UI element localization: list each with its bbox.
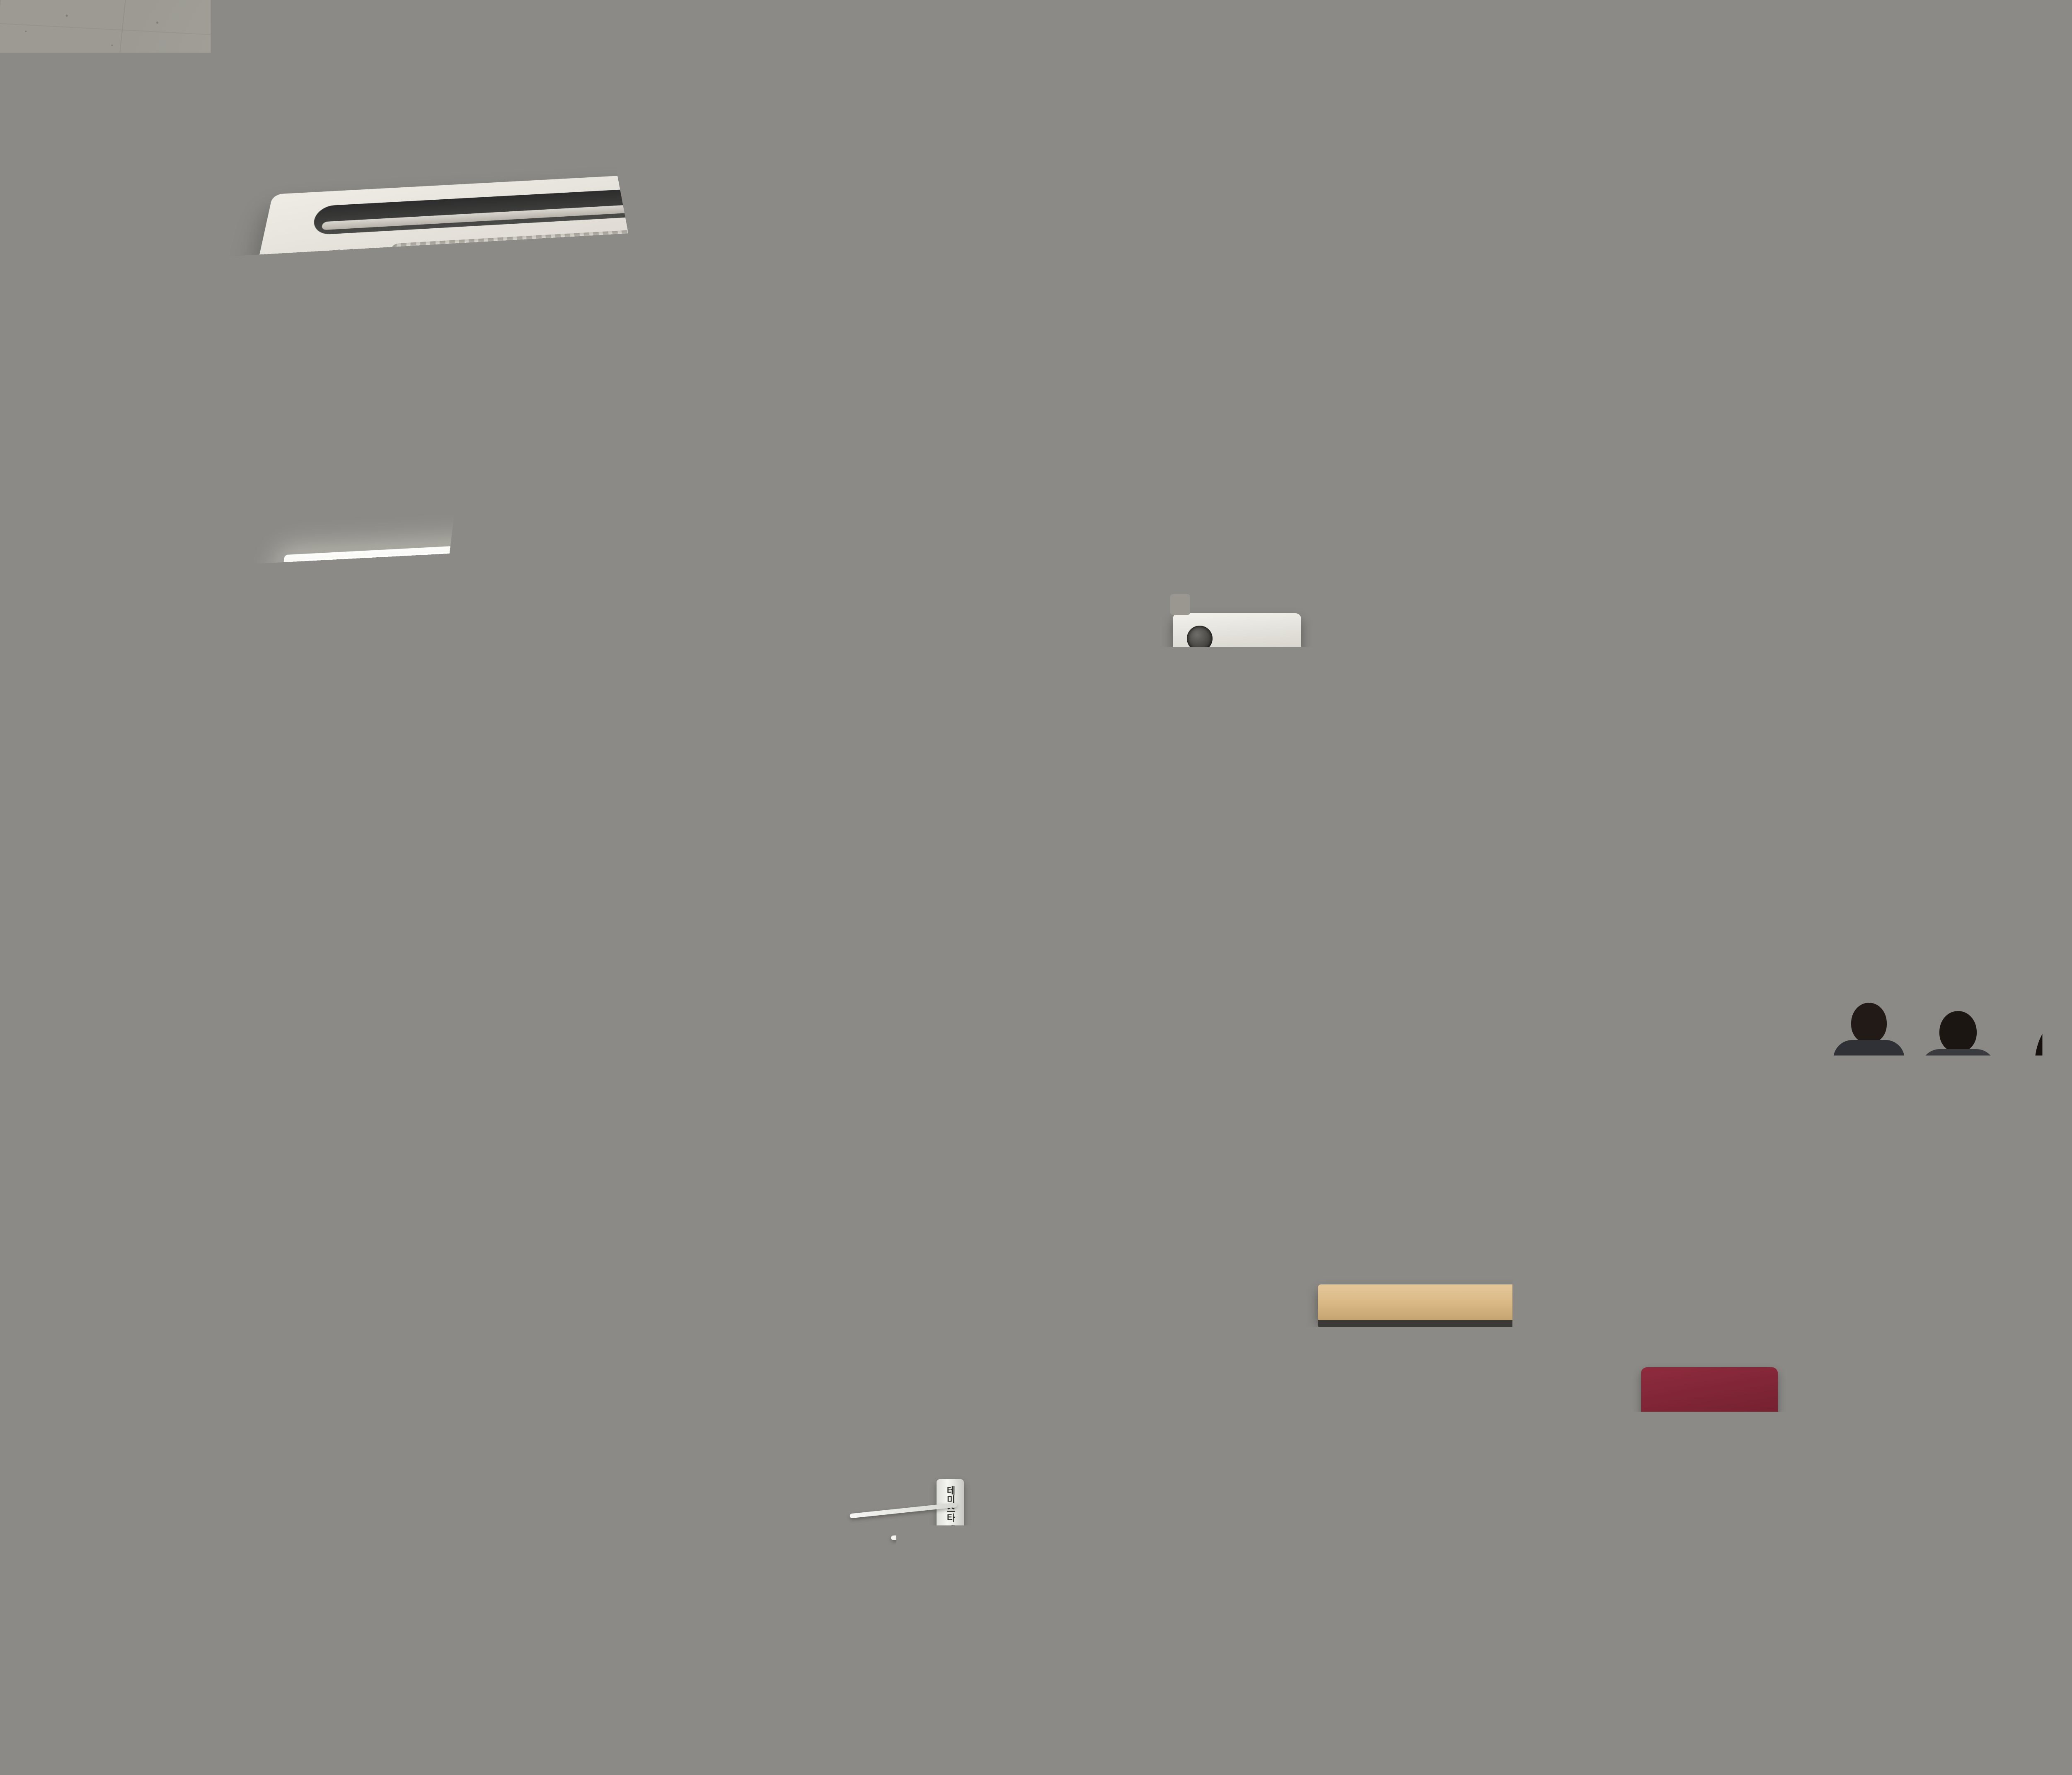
- attendee-head: [871, 1015, 907, 1057]
- banner-bullet-icon: ■: [951, 781, 962, 789]
- snack-pack[interactable]: [1533, 1417, 1649, 1479]
- round-object[interactable]: [1401, 1715, 1446, 1761]
- window-glass: [1977, 520, 2072, 830]
- classroom-chair[interactable]: [315, 1388, 439, 1487]
- bottle-label-text: 아이스티: [1753, 1399, 1764, 1427]
- earbuds[interactable]: [559, 1572, 598, 1592]
- iced-tea-bottle[interactable]: 아이스티: [1871, 1351, 1906, 1479]
- emotion-blob-yellow: [1061, 804, 1109, 849]
- paper-lines: [724, 1335, 814, 1383]
- student-desk[interactable]: [456, 1218, 754, 1252]
- sticky-note-pad[interactable]: [472, 1612, 543, 1661]
- paper-lines: [343, 1219, 461, 1271]
- presenter-view-toolbar[interactable]: 표시 설정 펜 설정 모니터 전환 — ▫ ✕: [987, 663, 1447, 680]
- mood-meter-grid: [2036, 1498, 2072, 1563]
- tablet-device[interactable]: [895, 1305, 1036, 1400]
- attendee-head: [85, 990, 123, 1033]
- tablet-device[interactable]: [1703, 1222, 1811, 1301]
- handout-paper[interactable]: [339, 1215, 465, 1275]
- backpack[interactable]: [1173, 1326, 1305, 1429]
- poster-right-items: [1542, 876, 1597, 914]
- qr-notice-flyer: 교내 시설 이용안내 / 설문 참여: [538, 940, 585, 1008]
- attendee-torso: [363, 1033, 437, 1109]
- ac-power-indicator-light: [748, 206, 765, 217]
- next-slide-button[interactable]: ▶: [1163, 970, 1176, 983]
- water-bottle[interactable]: [1280, 1077, 1300, 1135]
- window-mullion-horizontal: [68, 808, 301, 819]
- attendee: [62, 990, 145, 1110]
- slide-title-line-1: 대학생을 위한: [992, 729, 1278, 754]
- current-slide[interactable]: 대학생을 위한 "감정 마주하기": [992, 693, 1278, 988]
- attendee: [1964, 1119, 2072, 1400]
- banner-university-name-en: SEOYEONG UNIVERSITY: [673, 765, 793, 789]
- bottle-cap: [1747, 1328, 1769, 1340]
- slide-navigation[interactable]: ◀ 슬라이드 1/75 ▶: [1096, 970, 1176, 983]
- ac-intake-grille: [381, 226, 726, 372]
- bottle-label: 아이스티: [1871, 1387, 1906, 1456]
- paper-lines: [1660, 1542, 1871, 1644]
- more-options-tool-icon[interactable]: ⋯: [1084, 988, 1095, 1000]
- wall-speaker: [597, 663, 624, 717]
- presenter-eyeglasses-icon: [919, 940, 955, 951]
- iced-drink-cup[interactable]: [1036, 1367, 1086, 1463]
- ceiling-light-fixture: [624, 375, 1142, 432]
- backpack[interactable]: [1260, 1434, 1384, 1541]
- cork-bulletin-board: [404, 827, 578, 951]
- zoom-indicator[interactable]: ✎ ⌕: [1273, 973, 1300, 981]
- slide-notes-placeholder: 슬라이드 노트가 없습니다: [1290, 841, 1356, 849]
- ceiling-vent: [1124, 431, 1246, 474]
- attendee-head: [1939, 1011, 1977, 1052]
- student-desk[interactable]: [1931, 1214, 2072, 1249]
- pen[interactable]: [1757, 1516, 1861, 1521]
- student-desk[interactable]: [1318, 1284, 1641, 1320]
- attendee: [361, 994, 439, 1110]
- cup-sleeve: [655, 1459, 725, 1510]
- classroom-chair[interactable]: [1376, 1376, 1508, 1479]
- pencil-case[interactable]: [419, 1541, 497, 1574]
- poster-left-bars: [1472, 890, 1524, 909]
- canned-drink[interactable]: 테미스타 애플: [937, 1479, 964, 1560]
- previous-slide-button[interactable]: ◀: [1096, 970, 1109, 983]
- bottle-cap: [1284, 1071, 1296, 1078]
- instructor-avatar-illustration: [1381, 725, 1415, 770]
- ac-brand-label: LG: [336, 246, 358, 261]
- desk-leg: [986, 1552, 993, 1676]
- red-pouch[interactable]: [1343, 1724, 1405, 1773]
- projection-screen-frame: 표시 설정 펜 설정 모니터 전환 — ▫ ✕ 슬라이드 쇼 오후 4:00 다…: [984, 661, 1452, 1005]
- emotion-blob-blue: [1162, 851, 1210, 895]
- attendee-head: [1372, 1007, 1409, 1048]
- next-slide-label: 다음 슬라이드: [1289, 682, 1320, 689]
- wall-power-outlet[interactable]: [36, 883, 49, 902]
- poster-footer-graphic: [1469, 919, 1527, 938]
- pen[interactable]: [224, 1558, 311, 1562]
- iced-tea-bottle[interactable]: 아이스티: [1740, 1338, 1776, 1475]
- foreground-attendee-bottom: [137, 1690, 319, 1775]
- projection-screen[interactable]: 표시 설정 펜 설정 모니터 전환 — ▫ ✕ 슬라이드 쇼 오후 4:00 다…: [987, 663, 1447, 1000]
- slide-footer-text: 서영대학교 2025. 5. 22.(목) 16:00: [992, 909, 1278, 922]
- mood-quadrant-blue: [710, 1620, 799, 1669]
- poster-left-title: 다중 교육 목적: [1471, 863, 1525, 872]
- backpack[interactable]: [1193, 1210, 1318, 1305]
- evacuation-map-sign: [1492, 970, 1516, 1005]
- classroom-chair[interactable]: [750, 1409, 883, 1508]
- qr-notice-text: 교내 시설 이용안내 / 설문 참여: [542, 946, 582, 956]
- university-crest-icon: [699, 668, 761, 730]
- black-screen-tool-icon[interactable]: ▨: [1061, 988, 1073, 1000]
- window-controls[interactable]: — ▫ ✕: [1425, 668, 1440, 675]
- toolbar-display-settings[interactable]: 표시 설정: [994, 668, 1015, 676]
- next-slide-caption: 강사명: [1398, 814, 1409, 819]
- plush-pouch[interactable]: [758, 1508, 874, 1595]
- laptop-screen[interactable]: [166, 1073, 261, 1139]
- attendee-head: [772, 1044, 815, 1092]
- zoom-tool-icon[interactable]: ⌕: [1039, 988, 1051, 1000]
- statusbar-mode-label: 슬라이드 쇼: [994, 682, 1020, 689]
- presenter-view-statusbar: 슬라이드 쇼 오후 4:00 다음 슬라이드: [987, 679, 1447, 692]
- cloud-decoration-icon: [1081, 698, 1159, 717]
- attendee: [1919, 1011, 1997, 1127]
- student-desk[interactable]: [149, 1144, 381, 1173]
- book-upright[interactable]: [2055, 1608, 2072, 1682]
- attendee-torso: [1564, 1110, 1651, 1185]
- attendee-head: [1740, 1007, 1778, 1048]
- framed-notice-board: 다중 교육 목적 프로그램 학습성과: [1450, 833, 1612, 953]
- student-desk[interactable]: [808, 1193, 1098, 1227]
- desk-leg: [543, 1587, 549, 1711]
- attendee-torso: [852, 1053, 926, 1128]
- toolbar-pen-settings[interactable]: 펜 설정: [1027, 668, 1043, 676]
- attendee: [1380, 1110, 1529, 1384]
- attendee-head: [382, 994, 418, 1036]
- tablet-device[interactable]: [605, 1707, 713, 1775]
- attendee-torso: [64, 1030, 143, 1109]
- attendee-head: [1508, 1011, 1546, 1053]
- notepad[interactable]: [1496, 1740, 1633, 1775]
- next-slide-body-line-1: 안녕하세요 여러분 만나 뵙게 되어 반갑습니다: [1304, 730, 1385, 738]
- pink-notebook[interactable]: [85, 1559, 288, 1673]
- window-latch-handle[interactable]: [182, 764, 194, 793]
- pencil-case[interactable]: [327, 1533, 427, 1570]
- emotion-character-grid: [1061, 804, 1210, 895]
- iced-coffee-cup[interactable]: COFFEE: [555, 1425, 622, 1550]
- cup-brand-label: COFFEE: [604, 1471, 615, 1508]
- left-window[interactable]: [62, 592, 307, 965]
- emotion-blob-pink: [1112, 804, 1160, 849]
- stitch-drink-cup[interactable]: [655, 1409, 725, 1550]
- attendee-head: [1851, 1003, 1887, 1043]
- poster-education-objectives: 다중 교육 목적: [1467, 858, 1529, 941]
- pencil-case[interactable]: [1939, 1438, 2064, 1483]
- attendee: [510, 1011, 588, 1127]
- qr-code-icon: [550, 961, 573, 986]
- barred-window: [1956, 462, 2072, 880]
- mood-quadrant-green: [796, 1613, 885, 1663]
- tablet-device[interactable]: [448, 1110, 522, 1164]
- next-slide-thumbnail[interactable]: 강사 소개 안녕하세요 여러분 만나 뵙게 되어 반갑습니다 강사명: [1289, 695, 1428, 832]
- tote-bag[interactable]: [1077, 1202, 1160, 1280]
- emotion-blob-green: [1112, 851, 1160, 895]
- all-slides-tool-icon[interactable]: ▦: [1017, 988, 1028, 1000]
- poster-footer-graphic: [1541, 919, 1598, 938]
- plastic-fork[interactable]: [1815, 1450, 1832, 1504]
- handout-paper[interactable]: [1656, 1538, 1875, 1649]
- toolbar-swap-monitor[interactable]: 모니터 전환: [1055, 668, 1081, 676]
- notebook-cover-art: [1545, 1488, 1651, 1536]
- eyeglasses-icon: [1687, 1070, 1738, 1083]
- bottle-label-text: 아이스티: [1883, 1407, 1894, 1435]
- bag-logo: NK: [1340, 1624, 1376, 1653]
- slide-title-line-2: "감정 마주하기": [992, 759, 1278, 790]
- classroom-photo-scene: LG WHISEN 교내 시설 이용안내 / 설문 참여 서영대학교 SEOYE…: [0, 0, 2072, 1775]
- emotion-blob-purple: [1162, 804, 1210, 849]
- mood-quadrant-yellow: [1935, 1501, 2030, 1551]
- attendee-torso: [511, 1050, 587, 1126]
- slide-counter: 슬라이드 1/75: [1117, 972, 1156, 982]
- tablet-device[interactable]: [182, 1417, 265, 1479]
- wall-speaker: [1455, 680, 1482, 733]
- classroom-chair[interactable]: [62, 1367, 186, 1467]
- poster-program-outcomes: 프로그램 학습성과: [1538, 858, 1600, 941]
- handout-paper[interactable]: [719, 1330, 818, 1388]
- attendee-hair: [141, 1690, 315, 1775]
- tote-bag[interactable]: [1053, 1591, 1177, 1769]
- eyeglasses[interactable]: [190, 1597, 253, 1624]
- tablet-device[interactable]: [124, 1222, 228, 1297]
- paper-stack[interactable]: [891, 1666, 1015, 1724]
- statusbar-clock: 오후 4:00: [1264, 682, 1285, 689]
- attendee-torso: [1966, 1239, 2072, 1376]
- desk-leg: [613, 1552, 620, 1693]
- bottle-label: 아이스티: [1740, 1376, 1776, 1450]
- poster-right-title: 프로그램 학습성과: [1542, 863, 1596, 872]
- mood-quadrant-green: [1937, 1546, 2032, 1597]
- bag-handle: [1075, 1572, 1155, 1593]
- bottle-cap: [1877, 1341, 1900, 1352]
- attendee: [1562, 1044, 1653, 1185]
- student-desk[interactable]: [1285, 1177, 1542, 1210]
- banner-university-name-kr: 서영대학교: [673, 739, 793, 763]
- iced-drink-cup-foreground[interactable]: [435, 1707, 522, 1775]
- attendee-head: [530, 1011, 568, 1053]
- next-slide-title: 강사 소개: [1305, 714, 1336, 725]
